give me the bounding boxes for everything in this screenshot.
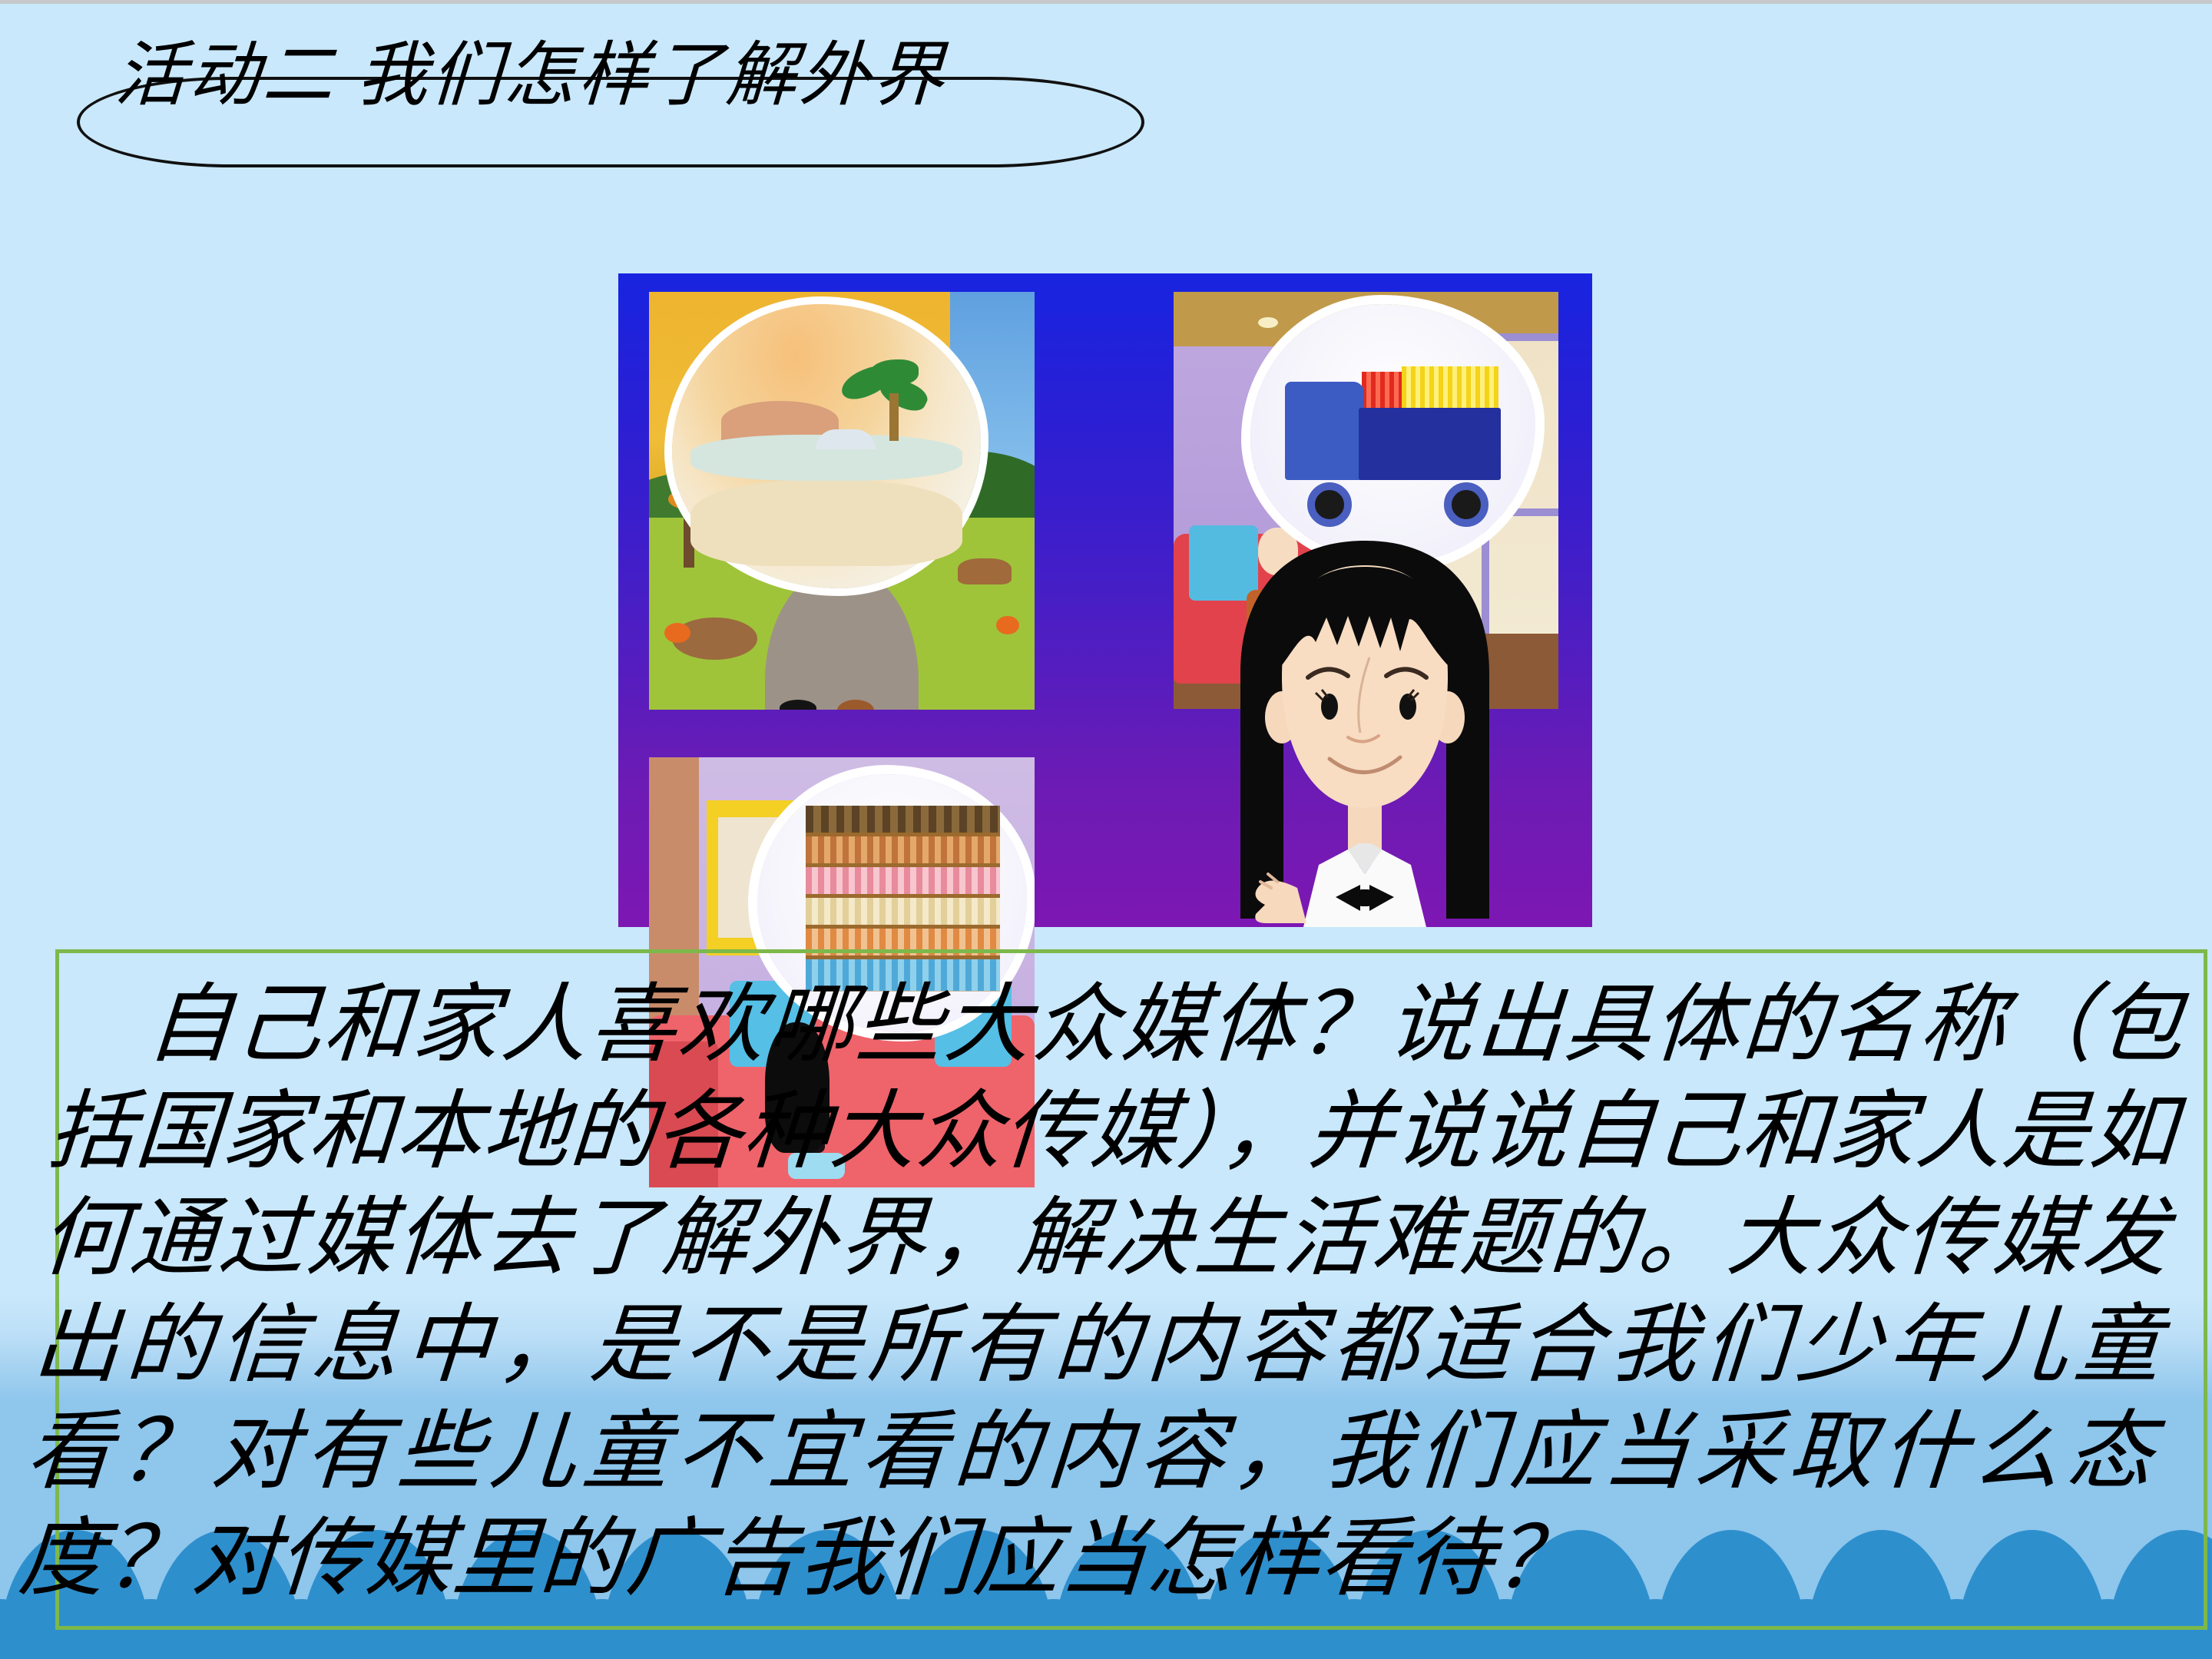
slide-canvas: 活动二 我们怎样了解外界 [0, 0, 2212, 1659]
panel1-animal [958, 558, 1012, 584]
truck-bed [1359, 408, 1501, 480]
question-text: 自己和家人喜欢哪些大众媒体？说出具体的名称（包括国家和本地的各种大众传媒），并说… [15, 972, 2187, 1613]
truck-wheel [1444, 482, 1488, 527]
illustration-block [618, 273, 1592, 927]
panel1-bubble-umbrella [816, 429, 876, 449]
shelf-row [806, 867, 1000, 898]
panel1-thought-bubble [672, 304, 981, 588]
cartoon-girl [1165, 527, 1565, 927]
panel-daydream-beach [649, 292, 1035, 710]
panel2-ceiling-lamp [1258, 317, 1278, 328]
panel1-bush-left [664, 623, 690, 643]
top-edge-strip [0, 0, 2212, 4]
palm-trunk [889, 393, 899, 441]
panel2-thought-bubble [1250, 304, 1535, 563]
truck-cab [1285, 382, 1365, 480]
panel1-bubble-palm-tree [862, 367, 931, 436]
panel1-bush-right [996, 616, 1019, 634]
shelf-row [806, 898, 1000, 929]
shelf-row [806, 806, 1000, 836]
kid-hair [780, 700, 816, 710]
page-title: 活动二 我们怎样了解外界 [114, 40, 1131, 111]
panel1-bubble-beach [690, 481, 962, 566]
shelf-row [806, 836, 1000, 867]
truck-wheel [1307, 482, 1352, 527]
